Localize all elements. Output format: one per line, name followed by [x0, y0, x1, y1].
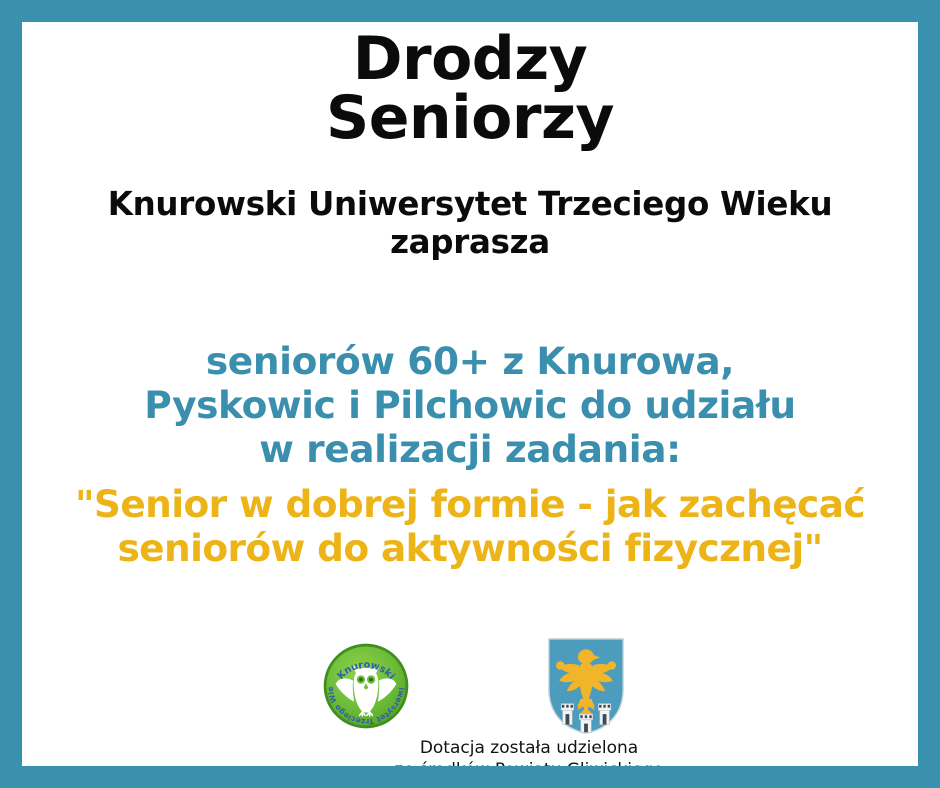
owl-icon: Knurowski Uniwersytet Trzeciego Wieku [320, 640, 412, 732]
subtitle-line-1: Knurowski Uniwersytet Trzeciego Wieku [108, 185, 833, 223]
coat-of-arms-logo [543, 636, 629, 736]
invitation-line-1: seniorów 60+ z Knurowa, [22, 340, 918, 384]
shield-icon [543, 636, 629, 736]
funding-caption: Dotacja została udzielona ze środków Pow… [22, 737, 918, 781]
organizer-subtitle: Knurowski Uniwersytet Trzeciego Wieku za… [22, 186, 918, 261]
task-title-line-1: "Senior w dobrej formie - jak zachęcać [22, 483, 918, 527]
subtitle-line-2: zaprasza [22, 224, 918, 262]
invitation-text: seniorów 60+ z Knurowa, Pyskowic i Pilch… [22, 340, 918, 472]
task-title: "Senior w dobrej formie - jak zachęcać s… [22, 483, 918, 571]
page-title: Drodzy Seniorzy [22, 30, 918, 148]
poster-canvas: Drodzy Seniorzy Knurowski Uniwersytet Tr… [22, 22, 918, 766]
caption-line-2: ze środków Powiatu Gliwickiego [140, 759, 918, 781]
task-title-line-2: seniorów do aktywności fizycznej" [22, 527, 918, 571]
headline-line-2: Seniorzy [22, 89, 918, 148]
caption-line-1: Dotacja została udzielona [140, 737, 918, 759]
utw-logo: Knurowski Uniwersytet Trzeciego Wieku [320, 640, 412, 732]
towers-charge [561, 704, 611, 733]
invitation-line-3: w realizacji zadania: [22, 428, 918, 472]
poster-frame: Drodzy Seniorzy Knurowski Uniwersytet Tr… [0, 0, 940, 788]
logo-row: Knurowski Uniwersytet Trzeciego Wieku [22, 630, 918, 740]
invitation-line-2: Pyskowic i Pilchowic do udziału [22, 384, 918, 428]
